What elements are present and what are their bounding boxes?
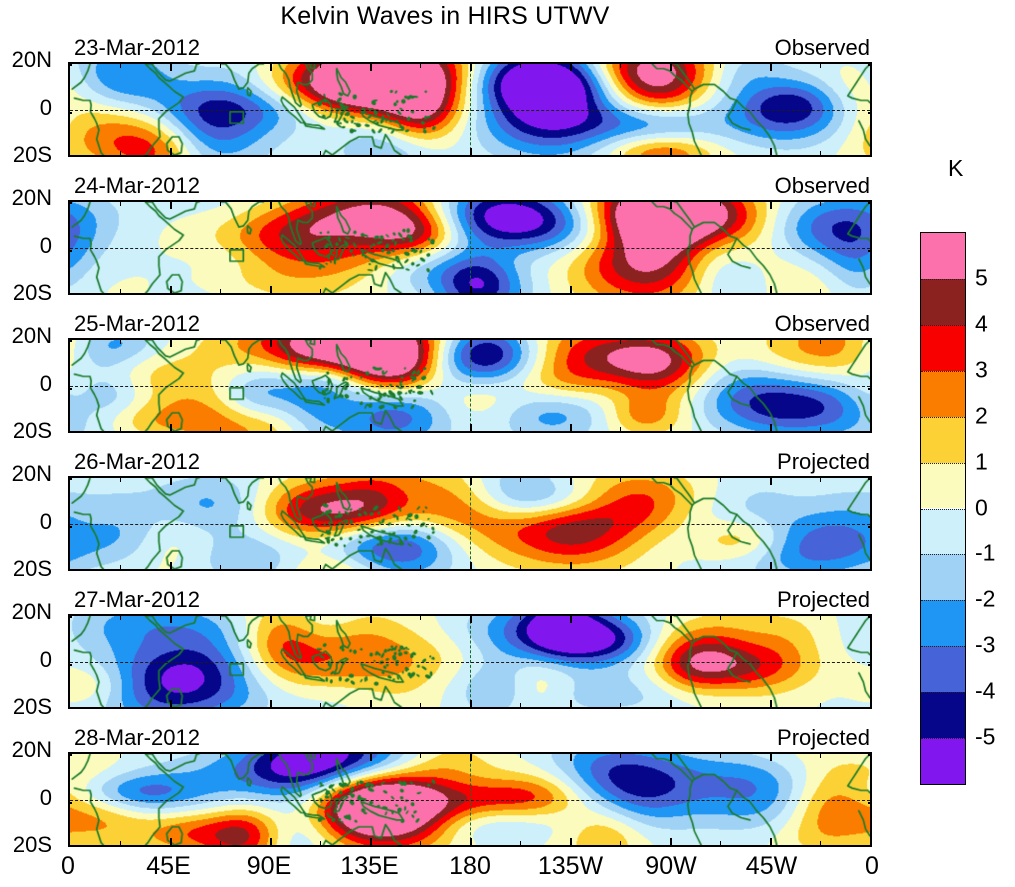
x-tick-minor: [620, 63, 621, 68]
colorbar-band[interactable]: [921, 417, 965, 463]
map-panel-5[interactable]: [68, 614, 872, 709]
x-tick-bottom: [370, 424, 372, 432]
x-tick-minor: [320, 427, 321, 432]
panel-status-label: Observed: [775, 35, 870, 61]
x-tick-bottom: [570, 838, 572, 846]
x-tick-bottom: [270, 148, 272, 156]
x-tick-minor: [520, 339, 521, 344]
x-tick-bottom: [470, 286, 472, 294]
panel-date-label: 28-Mar-2012: [74, 725, 200, 751]
x-tick-minor: [720, 565, 721, 570]
y-tick: [868, 478, 872, 480]
y-tick: [68, 112, 72, 114]
x-tick-top: [270, 339, 272, 347]
x-tick-top: [470, 753, 472, 761]
anomaly-field-canvas: [70, 754, 870, 845]
x-tick-top: [270, 615, 272, 623]
x-tick-bottom: [270, 424, 272, 432]
x-tick-minor: [320, 477, 321, 482]
x-tick-minor: [420, 753, 421, 758]
y-axis-tick-label: 0: [0, 95, 52, 121]
x-tick-minor: [520, 201, 521, 206]
x-tick-minor: [520, 477, 521, 482]
x-tick-minor: [320, 289, 321, 294]
x-tick-minor: [520, 841, 521, 846]
colorbar-separator: [921, 509, 965, 510]
colorbar-tick-label: 1: [975, 448, 988, 475]
x-tick-minor: [620, 289, 621, 294]
y-tick: [68, 64, 72, 66]
panel-status-label: Projected: [777, 725, 870, 751]
y-axis-tick-label: 0: [0, 371, 52, 397]
x-tick-bottom: [170, 562, 172, 570]
x-tick-top: [470, 339, 472, 347]
colorbar-separator: [921, 463, 965, 464]
x-tick-bottom: [370, 838, 372, 846]
y-axis-tick-label: 20N: [0, 323, 52, 349]
colorbar-band[interactable]: [921, 600, 965, 646]
colorbar-tick-label: 5: [975, 264, 988, 291]
x-tick-minor: [220, 753, 221, 758]
x-tick-minor: [820, 841, 821, 846]
x-tick-bottom: [370, 286, 372, 294]
colorbar-band[interactable]: [921, 233, 965, 279]
x-tick-bottom: [570, 286, 572, 294]
x-tick-minor: [520, 565, 521, 570]
x-axis-tick-labels: 045E90E135E180135W90W45W0: [68, 852, 872, 882]
x-tick-minor: [120, 703, 121, 708]
x-tick-minor: [320, 63, 321, 68]
colorbar-separator: [921, 738, 965, 739]
x-tick-top: [770, 201, 772, 209]
colorbar-tick-label: 4: [975, 310, 988, 337]
x-tick-top: [570, 201, 572, 209]
x-tick-minor: [820, 477, 821, 482]
x-tick-minor: [820, 63, 821, 68]
colorbar-band[interactable]: [921, 646, 965, 692]
x-tick-minor: [720, 201, 721, 206]
x-tick-minor: [420, 703, 421, 708]
colorbar-tick-label: -3: [975, 632, 995, 659]
x-axis-tick-label: 135E: [340, 852, 398, 881]
x-tick-bottom: [170, 286, 172, 294]
y-tick: [868, 526, 872, 528]
anomaly-field-canvas: [70, 64, 870, 155]
x-tick-minor: [520, 427, 521, 432]
x-tick-bottom: [370, 562, 372, 570]
x-tick-bottom: [170, 838, 172, 846]
colorbar[interactable]: [920, 232, 966, 785]
y-tick: [68, 754, 72, 756]
x-tick-minor: [420, 427, 421, 432]
anomaly-field-canvas: [70, 478, 870, 569]
x-tick-bottom: [170, 424, 172, 432]
x-tick-bottom: [670, 562, 672, 570]
x-tick-top: [170, 615, 172, 623]
x-tick-minor: [320, 703, 321, 708]
x-tick-minor: [420, 565, 421, 570]
x-tick-top: [370, 63, 372, 71]
y-tick: [68, 388, 72, 390]
x-tick-bottom: [170, 148, 172, 156]
x-tick-minor: [420, 289, 421, 294]
y-axis-tick-label: 0: [0, 785, 52, 811]
y-axis-tick-label: 20N: [0, 47, 52, 73]
x-tick-top: [270, 477, 272, 485]
x-tick-minor: [220, 339, 221, 344]
x-tick-top: [170, 753, 172, 761]
x-tick-top: [470, 615, 472, 623]
y-tick: [868, 664, 872, 666]
x-tick-minor: [220, 201, 221, 206]
x-tick-minor: [520, 753, 521, 758]
x-tick-minor: [420, 477, 421, 482]
panel-date-label: 25-Mar-2012: [74, 311, 200, 337]
x-tick-minor: [720, 477, 721, 482]
map-panel-3[interactable]: [68, 338, 872, 433]
y-tick: [868, 616, 872, 618]
y-tick: [68, 616, 72, 618]
x-tick-bottom: [770, 424, 772, 432]
colorbar-tick-label: -4: [975, 678, 995, 705]
x-tick-minor: [720, 753, 721, 758]
y-tick: [868, 112, 872, 114]
y-tick: [868, 340, 872, 342]
map-panel-4[interactable]: [68, 476, 872, 571]
x-tick-minor: [520, 289, 521, 294]
x-tick-top: [670, 753, 672, 761]
x-tick-top: [370, 615, 372, 623]
x-tick-minor: [620, 339, 621, 344]
x-tick-top: [270, 201, 272, 209]
x-tick-minor: [820, 703, 821, 708]
panel-date-label: 26-Mar-2012: [74, 449, 200, 475]
x-tick-minor: [120, 63, 121, 68]
x-tick-minor: [620, 151, 621, 156]
x-tick-minor: [420, 615, 421, 620]
x-tick-minor: [320, 151, 321, 156]
y-tick: [868, 802, 872, 804]
y-axis-tick-label: 20S: [0, 556, 52, 582]
x-tick-top: [170, 201, 172, 209]
x-tick-bottom: [670, 424, 672, 432]
x-tick-minor: [220, 151, 221, 156]
panel-date-label: 24-Mar-2012: [74, 173, 200, 199]
x-tick-top: [470, 63, 472, 71]
x-tick-minor: [120, 477, 121, 482]
x-tick-top: [170, 63, 172, 71]
y-tick: [68, 478, 72, 480]
x-tick-top: [570, 615, 572, 623]
y-axis-tick-label: 20S: [0, 832, 52, 858]
x-tick-top: [570, 753, 572, 761]
colorbar-separator: [921, 325, 965, 326]
x-tick-top: [370, 201, 372, 209]
x-axis-tick-label: 45E: [146, 852, 190, 881]
x-tick-top: [770, 753, 772, 761]
x-tick-minor: [220, 289, 221, 294]
x-tick-minor: [720, 841, 721, 846]
x-tick-minor: [220, 565, 221, 570]
x-tick-minor: [620, 615, 621, 620]
y-tick: [68, 802, 72, 804]
x-tick-minor: [620, 703, 621, 708]
x-tick-minor: [820, 615, 821, 620]
y-tick: [68, 664, 72, 666]
x-tick-minor: [220, 615, 221, 620]
x-tick-minor: [820, 151, 821, 156]
figure-title: Kelvin Waves in HIRS UTWV: [0, 2, 890, 31]
x-tick-top: [570, 63, 572, 71]
x-tick-minor: [620, 427, 621, 432]
x-tick-minor: [320, 615, 321, 620]
x-tick-top: [770, 63, 772, 71]
x-tick-top: [170, 339, 172, 347]
x-tick-bottom: [270, 286, 272, 294]
y-tick: [68, 340, 72, 342]
x-tick-top: [770, 339, 772, 347]
x-tick-minor: [120, 427, 121, 432]
x-axis-tick-label: 135W: [538, 852, 603, 881]
x-tick-bottom: [770, 562, 772, 570]
x-tick-top: [670, 201, 672, 209]
x-tick-minor: [320, 565, 321, 570]
x-tick-minor: [820, 427, 821, 432]
x-tick-top: [770, 477, 772, 485]
y-axis-tick-label: 20N: [0, 599, 52, 625]
y-axis-tick-label: 20N: [0, 737, 52, 763]
x-axis-tick-label: 90W: [645, 852, 696, 881]
x-tick-bottom: [570, 700, 572, 708]
x-tick-minor: [420, 63, 421, 68]
y-axis-tick-label: 20S: [0, 142, 52, 168]
x-tick-minor: [720, 289, 721, 294]
x-tick-minor: [820, 339, 821, 344]
x-tick-minor: [120, 615, 121, 620]
x-tick-minor: [420, 339, 421, 344]
y-axis-tick-label: 20S: [0, 418, 52, 444]
x-tick-bottom: [470, 700, 472, 708]
x-tick-minor: [420, 151, 421, 156]
x-tick-minor: [620, 477, 621, 482]
x-tick-minor: [120, 841, 121, 846]
y-axis-tick-label: 20S: [0, 694, 52, 720]
anomaly-field-canvas: [70, 340, 870, 431]
colorbar-band[interactable]: [921, 509, 965, 555]
y-axis-tick-label: 20S: [0, 280, 52, 306]
colorbar-separator: [921, 646, 965, 647]
x-axis-tick-label: 0: [865, 852, 879, 881]
x-tick-top: [370, 339, 372, 347]
y-tick: [868, 202, 872, 204]
x-tick-minor: [120, 565, 121, 570]
x-tick-minor: [320, 753, 321, 758]
x-tick-minor: [220, 63, 221, 68]
x-tick-minor: [520, 703, 521, 708]
colorbar-tick-label: -1: [975, 540, 995, 567]
colorbar-tick-label: 2: [975, 402, 988, 429]
colorbar-tick-label: 0: [975, 494, 988, 521]
x-tick-bottom: [270, 562, 272, 570]
x-tick-top: [370, 753, 372, 761]
x-tick-top: [470, 477, 472, 485]
x-tick-bottom: [770, 838, 772, 846]
x-tick-bottom: [370, 148, 372, 156]
y-tick: [868, 388, 872, 390]
x-axis-tick-label: 180: [449, 852, 491, 881]
x-tick-minor: [620, 753, 621, 758]
x-tick-minor: [420, 201, 421, 206]
x-tick-minor: [120, 151, 121, 156]
anomaly-field-canvas: [70, 616, 870, 707]
colorbar-separator: [921, 371, 965, 372]
figure-root: Kelvin Waves in HIRS UTWV 23-Mar-2012Obs…: [0, 0, 1015, 887]
map-panel-6[interactable]: [68, 752, 872, 847]
x-axis-tick-label: 90E: [247, 852, 291, 881]
y-tick: [68, 202, 72, 204]
colorbar-band[interactable]: [921, 692, 965, 738]
x-tick-minor: [220, 841, 221, 846]
x-tick-minor: [720, 339, 721, 344]
colorbar-band[interactable]: [921, 279, 965, 325]
panel-date-label: 23-Mar-2012: [74, 35, 200, 61]
panel-status-label: Projected: [777, 587, 870, 613]
y-axis-tick-label: 0: [0, 647, 52, 673]
y-tick: [68, 250, 72, 252]
x-tick-minor: [620, 841, 621, 846]
x-tick-minor: [720, 703, 721, 708]
x-tick-minor: [320, 841, 321, 846]
colorbar-tick-label: 3: [975, 356, 988, 383]
x-tick-bottom: [670, 148, 672, 156]
x-tick-bottom: [770, 286, 772, 294]
x-tick-top: [670, 63, 672, 71]
x-tick-minor: [120, 753, 121, 758]
x-tick-minor: [420, 841, 421, 846]
colorbar-units-label: K: [948, 155, 963, 182]
x-tick-top: [370, 477, 372, 485]
x-tick-top: [570, 477, 572, 485]
x-tick-bottom: [570, 424, 572, 432]
colorbar-band[interactable]: [921, 371, 965, 417]
y-tick: [868, 754, 872, 756]
x-tick-bottom: [570, 562, 572, 570]
y-tick: [868, 64, 872, 66]
x-tick-minor: [520, 63, 521, 68]
x-tick-minor: [220, 477, 221, 482]
x-tick-top: [270, 753, 272, 761]
x-tick-minor: [820, 753, 821, 758]
x-axis-tick-label: 45W: [746, 852, 797, 881]
x-tick-minor: [320, 201, 321, 206]
x-tick-bottom: [670, 286, 672, 294]
x-tick-bottom: [770, 700, 772, 708]
colorbar-band[interactable]: [921, 738, 965, 784]
x-tick-minor: [620, 565, 621, 570]
x-tick-top: [170, 477, 172, 485]
x-tick-top: [670, 615, 672, 623]
y-tick: [68, 526, 72, 528]
panel-status-label: Projected: [777, 449, 870, 475]
x-tick-top: [770, 615, 772, 623]
x-tick-minor: [120, 339, 121, 344]
x-tick-bottom: [470, 838, 472, 846]
colorbar-tick-label: -2: [975, 586, 995, 613]
panel-status-label: Observed: [775, 311, 870, 337]
x-tick-minor: [720, 615, 721, 620]
x-tick-top: [670, 339, 672, 347]
colorbar-separator: [921, 554, 965, 555]
x-tick-minor: [320, 339, 321, 344]
x-tick-minor: [820, 565, 821, 570]
x-tick-bottom: [470, 562, 472, 570]
map-panel-1[interactable]: [68, 62, 872, 157]
x-tick-minor: [620, 201, 621, 206]
x-tick-minor: [720, 151, 721, 156]
colorbar-separator: [921, 692, 965, 693]
colorbar-separator: [921, 279, 965, 280]
x-tick-top: [470, 201, 472, 209]
x-tick-top: [670, 477, 672, 485]
x-tick-minor: [720, 63, 721, 68]
x-tick-minor: [520, 151, 521, 156]
x-tick-minor: [220, 427, 221, 432]
y-axis-tick-label: 20N: [0, 185, 52, 211]
x-axis-tick-label: 0: [61, 852, 75, 881]
x-tick-top: [570, 339, 572, 347]
colorbar-band[interactable]: [921, 554, 965, 600]
x-tick-bottom: [570, 148, 572, 156]
x-tick-bottom: [270, 700, 272, 708]
x-tick-bottom: [370, 700, 372, 708]
x-tick-minor: [120, 289, 121, 294]
x-tick-bottom: [670, 838, 672, 846]
x-tick-bottom: [270, 838, 272, 846]
x-tick-minor: [120, 201, 121, 206]
x-tick-top: [270, 63, 272, 71]
x-tick-bottom: [770, 148, 772, 156]
x-tick-bottom: [670, 700, 672, 708]
x-tick-bottom: [470, 148, 472, 156]
anomaly-field-canvas: [70, 202, 870, 293]
colorbar-band[interactable]: [921, 463, 965, 509]
map-panel-2[interactable]: [68, 200, 872, 295]
x-tick-minor: [720, 427, 721, 432]
x-tick-minor: [820, 289, 821, 294]
panel-date-label: 27-Mar-2012: [74, 587, 200, 613]
colorbar-separator: [921, 600, 965, 601]
x-tick-minor: [820, 201, 821, 206]
colorbar-separator: [921, 417, 965, 418]
colorbar-tick-label: -5: [975, 724, 995, 751]
x-tick-bottom: [470, 424, 472, 432]
x-tick-minor: [520, 615, 521, 620]
x-tick-minor: [220, 703, 221, 708]
y-axis-tick-label: 0: [0, 509, 52, 535]
panel-status-label: Observed: [775, 173, 870, 199]
x-tick-bottom: [170, 700, 172, 708]
y-axis-tick-label: 20N: [0, 461, 52, 487]
y-tick: [868, 250, 872, 252]
y-axis-tick-label: 0: [0, 233, 52, 259]
colorbar-band[interactable]: [921, 325, 965, 371]
